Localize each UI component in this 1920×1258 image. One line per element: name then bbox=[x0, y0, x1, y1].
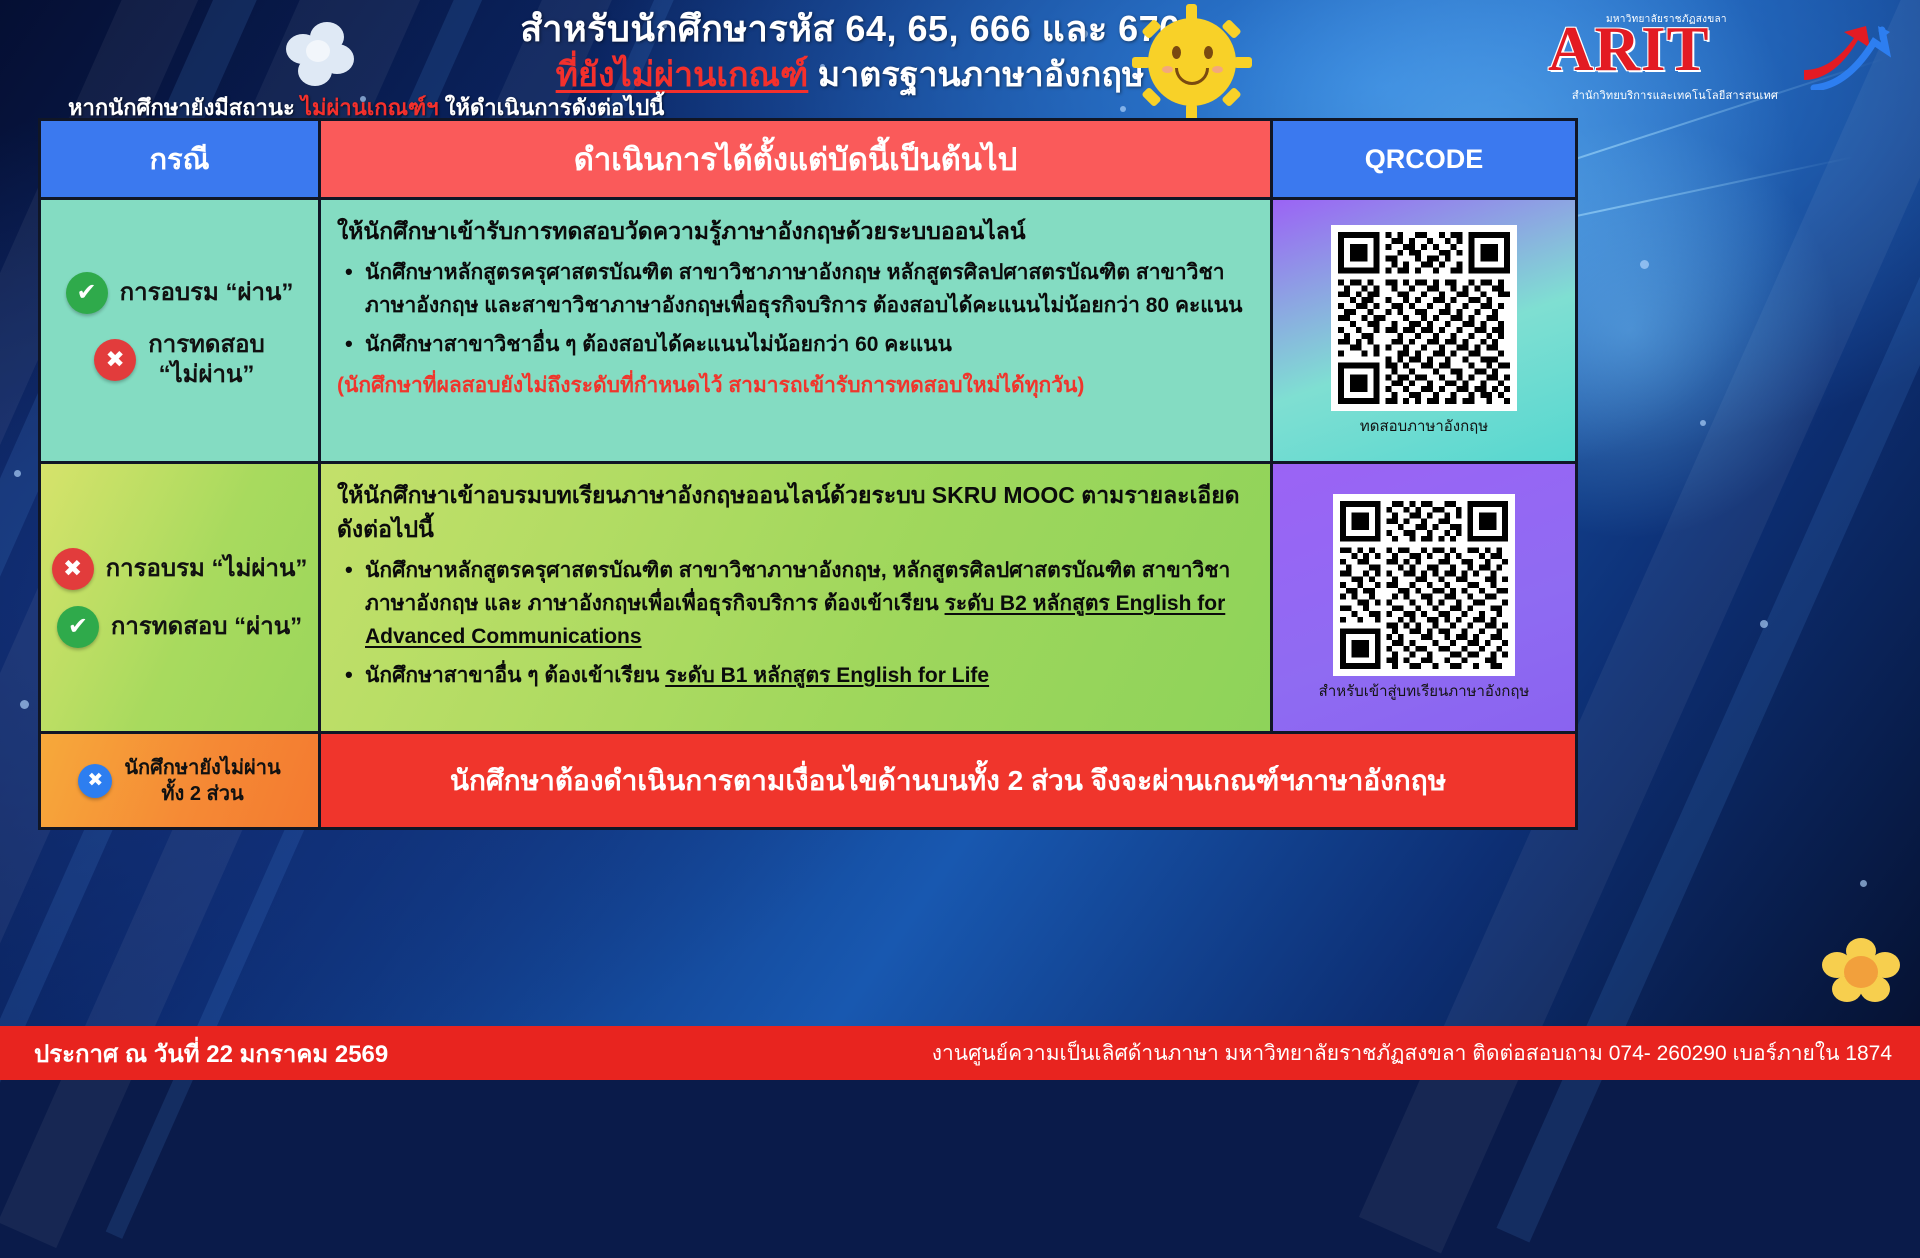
row1-qr-caption: ทดสอบภาษาอังกฤษ bbox=[1360, 417, 1488, 437]
sunflower-icon bbox=[1814, 930, 1910, 1022]
subnote-pre: หากนักศึกษายังมีสถานะ bbox=[68, 95, 295, 120]
row3-case-item-1-label: นักศึกษายังไม่ผ่าน ทั้ง 2 ส่วน bbox=[124, 755, 280, 807]
x-circle-icon: ✖ bbox=[78, 764, 112, 798]
subnote-highlight: ไม่ผ่านเกณฑ์ฯ bbox=[301, 95, 439, 120]
row2-case-item-1-label: การอบรม “ไม่ผ่าน” bbox=[106, 554, 308, 584]
table-row: ✖ การอบรม “ไม่ผ่าน” ✔ การทดสอบ “ผ่าน” ให… bbox=[41, 461, 1575, 731]
qr-code-english-test[interactable] bbox=[1331, 225, 1517, 411]
bg-dot bbox=[14, 470, 21, 477]
list-item: นักศึกษาสาขาวิชาอื่น ๆ ต้องสอบได้คะแนนไม… bbox=[337, 328, 1250, 361]
arrow-swoosh-icon bbox=[1800, 24, 1892, 90]
row2-action-cell: ให้นักศึกษาเข้าอบรมบทเรียนภาษาอังกฤษออนไ… bbox=[321, 464, 1273, 731]
row3-case-cell: ✖ นักศึกษายังไม่ผ่าน ทั้ง 2 ส่วน bbox=[41, 734, 321, 827]
row3-case-item-1: ✖ นักศึกษายังไม่ผ่าน ทั้ง 2 ส่วน bbox=[78, 755, 280, 807]
flower-icon bbox=[280, 18, 358, 92]
x-circle-icon: ✖ bbox=[52, 548, 94, 590]
row2-bullet-2-link[interactable]: ระดับ B1 หลักสูตร English for Life bbox=[665, 664, 989, 687]
row2-case-item-2: ✔ การทดสอบ “ผ่าน” bbox=[57, 606, 302, 648]
row2-action-lead: ให้นักศึกษาเข้าอบรมบทเรียนภาษาอังกฤษออนไ… bbox=[337, 478, 1250, 546]
row3-action-text: นักศึกษาต้องดำเนินการตามเงื่อนไขด้านบนทั… bbox=[450, 763, 1446, 799]
bg-dot bbox=[1860, 880, 1867, 887]
title-line-2-rest: มาตรฐานภาษาอังกฤษ bbox=[818, 56, 1145, 94]
row1-case-cell: ✔ การอบรม “ผ่าน” ✖ การทดสอบ “ไม่ผ่าน” bbox=[41, 200, 321, 461]
row1-case-item-1-label: การอบรม “ผ่าน” bbox=[120, 278, 294, 308]
footer-announcement-date: ประกาศ ณ วันที่ 22 มกราคม 2569 bbox=[34, 1034, 388, 1073]
column-header-action: ดำเนินการได้ตั้งแต่บัดนี้เป็นต้นไป bbox=[321, 121, 1273, 197]
qr-code-english-lesson-image bbox=[1340, 501, 1508, 669]
table-row: ✔ การอบรม “ผ่าน” ✖ การทดสอบ “ไม่ผ่าน” ให… bbox=[41, 197, 1575, 461]
logo-name: ARIT bbox=[1548, 14, 1710, 84]
logo-wordmark: ARIT bbox=[1548, 14, 1798, 88]
row2-case-item-1: ✖ การอบรม “ไม่ผ่าน” bbox=[52, 548, 308, 590]
row1-action-cell: ให้นักศึกษาเข้ารับการทดสอบวัดความรู้ภาษา… bbox=[321, 200, 1273, 461]
logo-subtitle: สำนักวิทยบริการและเทคโนโลยีสารสนเทศ bbox=[1550, 86, 1800, 104]
row1-case-item-2: ✖ การทดสอบ “ไม่ผ่าน” bbox=[94, 330, 265, 390]
row1-case-item-1: ✔ การอบรม “ผ่าน” bbox=[66, 272, 294, 314]
bg-dot bbox=[20, 700, 29, 709]
title-line-2-highlight: ที่ยังไม่ผ่านเกณฑ์ bbox=[556, 56, 809, 94]
row2-qr-caption: สำหรับเข้าสู่บทเรียนภาษาอังกฤษ bbox=[1319, 682, 1530, 702]
x-circle-icon: ✖ bbox=[94, 339, 136, 381]
subnote-post: ให้ดำเนินการดังต่อไปนี้ bbox=[445, 95, 665, 120]
qr-code-english-lesson[interactable] bbox=[1333, 494, 1515, 676]
row1-qr-cell: ทดสอบภาษาอังกฤษ bbox=[1273, 200, 1575, 461]
table-row: ✖ นักศึกษายังไม่ผ่าน ทั้ง 2 ส่วน นักศึกษ… bbox=[41, 731, 1575, 827]
qr-code-english-test-image bbox=[1338, 232, 1510, 404]
bg-dot bbox=[1640, 260, 1649, 269]
table-header-row: กรณี ดำเนินการได้ตั้งแต่บัดนี้เป็นต้นไป … bbox=[41, 121, 1575, 197]
row1-case-item-2-label: การทดสอบ “ไม่ผ่าน” bbox=[148, 330, 265, 390]
check-circle-icon: ✔ bbox=[66, 272, 108, 314]
column-header-qrcode: QRCODE bbox=[1273, 121, 1575, 197]
row2-qr-cell: สำหรับเข้าสู่บทเรียนภาษาอังกฤษ bbox=[1273, 464, 1575, 731]
row2-bullet-2-text: นักศึกษาสาขาอื่น ๆ ต้องเข้าเรียน bbox=[365, 664, 665, 687]
list-item: นักศึกษาสาขาอื่น ๆ ต้องเข้าเรียน ระดับ B… bbox=[337, 659, 1250, 692]
row1-action-bullets: นักศึกษาหลักสูตรครุศาสตรบัณฑิต สาขาวิชาภ… bbox=[337, 256, 1250, 361]
row2-case-cell: ✖ การอบรม “ไม่ผ่าน” ✔ การทดสอบ “ผ่าน” bbox=[41, 464, 321, 731]
page-header: สำหรับนักศึกษารหัส 64, 65, 666 และ 676 ท… bbox=[0, 0, 1920, 128]
row1-action-note: (นักศึกษาที่ผลสอบยังไม่ถึงระดับที่กำหนดไ… bbox=[337, 371, 1250, 401]
row1-action-lead: ให้นักศึกษาเข้ารับการทดสอบวัดความรู้ภาษา… bbox=[337, 214, 1250, 248]
row2-case-item-2-label: การทดสอบ “ผ่าน” bbox=[111, 612, 302, 642]
row3-action-cell: นักศึกษาต้องดำเนินการตามเงื่อนไขด้านบนทั… bbox=[321, 734, 1575, 827]
footer-contact-info: งานศูนย์ความเป็นเลิศด้านภาษา มหาวิทยาลัย… bbox=[932, 1037, 1892, 1070]
arit-logo: มหาวิทยาลัยราชภัฏสงขลา ARIT สำนักวิทยบริ… bbox=[1498, 10, 1898, 114]
list-item: นักศึกษาหลักสูตรครุศาสตรบัณฑิต สาขาวิชาภ… bbox=[337, 256, 1250, 322]
check-circle-icon: ✔ bbox=[57, 606, 99, 648]
row2-action-bullets: นักศึกษาหลักสูตรครุศาสตรบัณฑิต สาขาวิชาภ… bbox=[337, 554, 1250, 692]
bg-dot bbox=[1700, 420, 1706, 426]
main-table: กรณี ดำเนินการได้ตั้งแต่บัดนี้เป็นต้นไป … bbox=[38, 118, 1578, 830]
bg-dot bbox=[1760, 620, 1768, 628]
column-header-case: กรณี bbox=[41, 121, 321, 197]
list-item: นักศึกษาหลักสูตรครุศาสตรบัณฑิต สาขาวิชาภ… bbox=[337, 554, 1250, 653]
page-footer: ประกาศ ณ วันที่ 22 มกราคม 2569 งานศูนย์ค… bbox=[0, 1026, 1920, 1080]
